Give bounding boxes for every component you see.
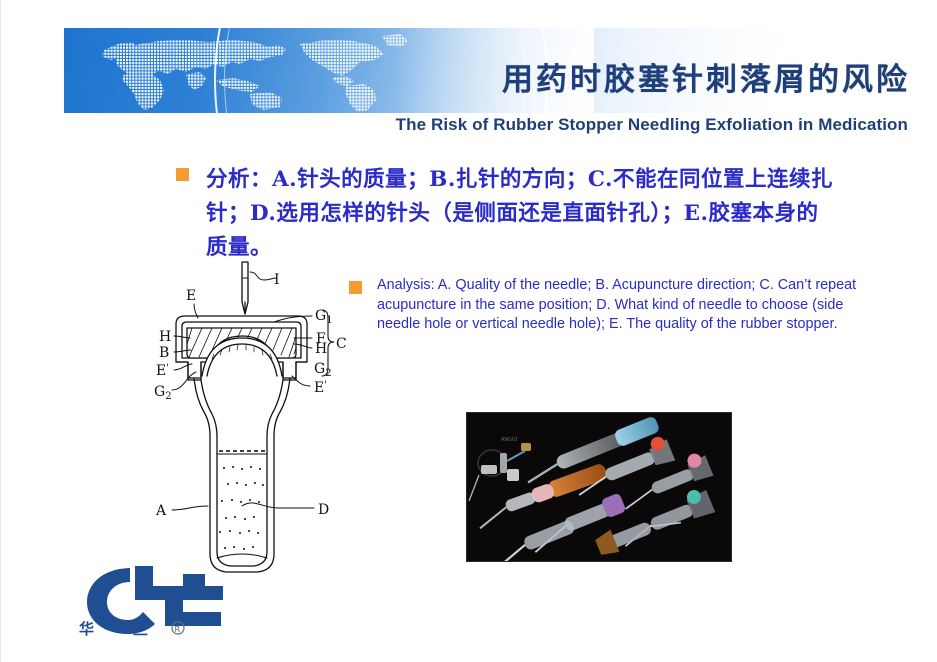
diagram-label-D: D	[318, 502, 329, 518]
page-subtitle-english: The Risk of Rubber Stopper Needling Exfo…	[64, 115, 937, 135]
diagram-label-I: I	[274, 272, 280, 288]
hualan-logo: 华 兰 R	[73, 556, 258, 641]
logo-text-cn: 华	[79, 620, 94, 638]
english-analysis-text: Analysis: A. Quality of the needle; B. A…	[377, 276, 869, 335]
chinese-analysis-text: 分析：A.针头的质量；B.扎针的方向；C.不能在同位置上连续扎针；D.选用怎样的…	[206, 163, 836, 265]
diagram-label-Eprime-left: E'	[156, 363, 169, 379]
diagram-label-B: B	[159, 345, 169, 361]
square-bullet-icon	[176, 168, 189, 181]
diagram-label-E-top: E	[186, 288, 196, 304]
iv-catheter-needles-photo: ANGIO	[467, 413, 731, 561]
diagram-label-H-right: H	[315, 341, 327, 357]
slide-root: 用药时胶塞针刺落屑的风险 The Risk of Rubber Stopper …	[0, 0, 937, 662]
diagram-label-G2-left: G2	[154, 384, 172, 402]
diagram-label-A: A	[155, 503, 167, 519]
diagram-label-C: C	[336, 336, 347, 352]
registered-mark: R	[175, 625, 181, 634]
svg-text:ANGIO: ANGIO	[501, 437, 518, 443]
diagram-label-H-left: H	[159, 329, 171, 345]
diagram-label-G2-right: G2	[314, 361, 332, 379]
diagram-label-G1: G1	[315, 308, 333, 326]
diagram-label-Eprime-right: E'	[314, 380, 327, 396]
vial-diagram: I E H B E' G2 G1 F H G2 E' C A D	[146, 258, 386, 588]
page-title-chinese: 用药时胶塞针刺落屑的风险	[64, 54, 937, 99]
chinese-analysis-bullet: 分析：A.针头的质量；B.扎针的方向；C.不能在同位置上连续扎针；D.选用怎样的…	[176, 163, 836, 265]
english-analysis-bullet: Analysis: A. Quality of the needle; B. A…	[349, 276, 869, 335]
header-banner: 用药时胶塞针刺落屑的风险	[64, 28, 937, 113]
logo-text-cn2: 兰	[133, 620, 148, 638]
